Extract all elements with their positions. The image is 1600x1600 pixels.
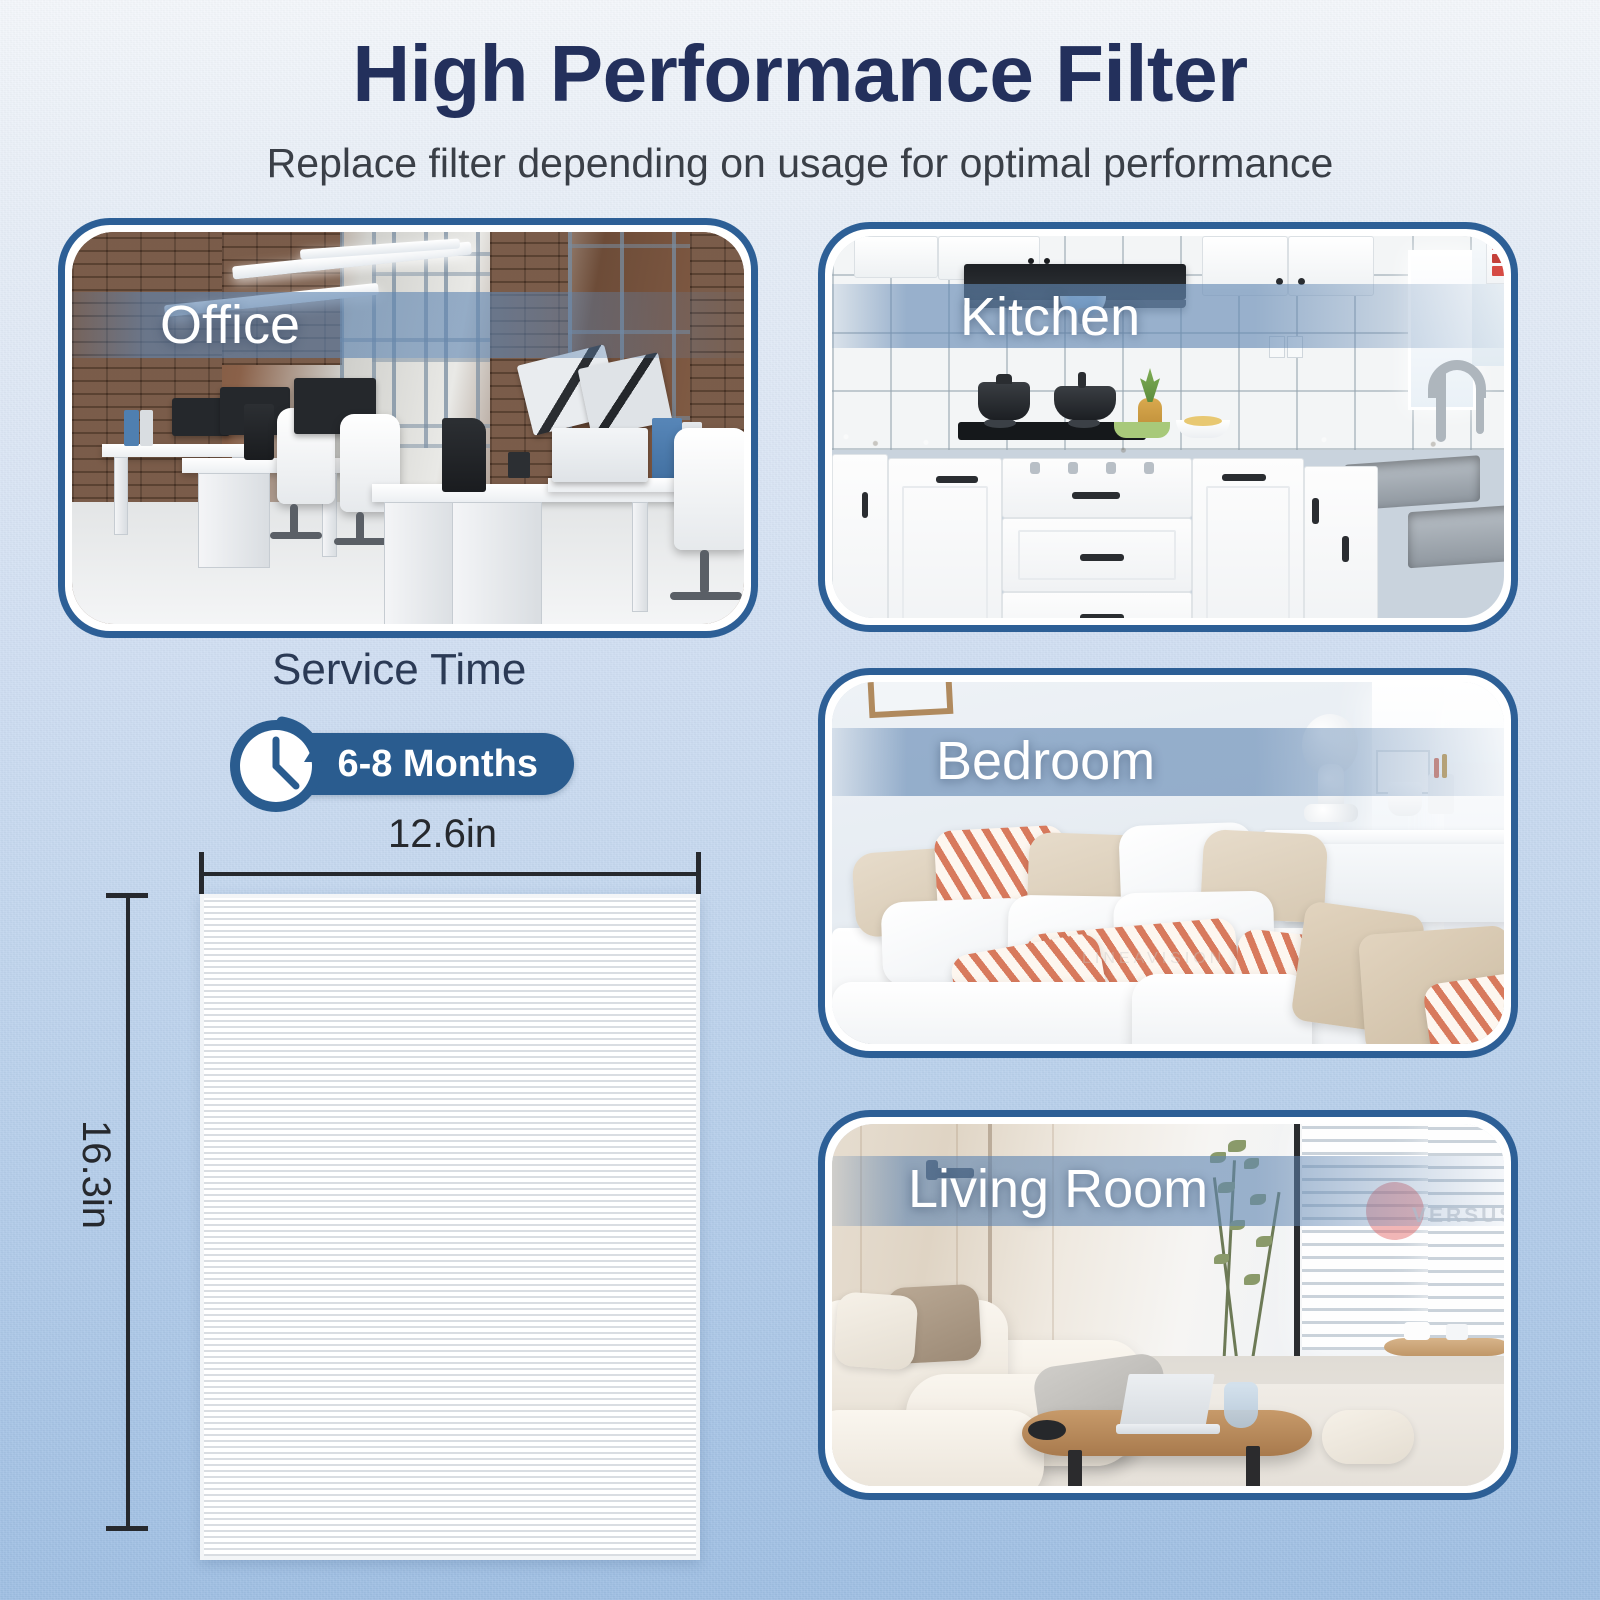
room-card-kitchen: Kitchen [818,222,1518,632]
room-label-kitchen: Kitchen [960,286,1140,348]
office-photo [72,232,744,624]
kitchen-label-band [832,284,1504,348]
room-label-bedroom: Bedroom [936,730,1155,792]
room-card-office: Office [58,218,758,638]
clock-refresh-icon [226,712,330,816]
width-dimension-label: 12.6in [388,812,497,857]
room-label-living-room: Living Room [908,1158,1208,1220]
height-dimension-line [126,894,130,1530]
width-dimension-cap-right [696,852,701,894]
filter-product-image [200,894,700,1560]
bedroom-label-band [832,728,1504,796]
service-time-heading: Service Time [272,645,526,695]
page-title: High Performance Filter [0,32,1600,116]
bedroom-watermark: LINEAVISION [1082,950,1225,968]
service-duration-label: 6-8 Months [337,743,538,786]
room-label-office: Office [160,294,300,356]
room-card-bedroom: LINEAVISION Bedroom [818,668,1518,1058]
width-dimension-cap-left [199,852,204,894]
page-subtitle: Replace filter depending on usage for op… [0,140,1600,187]
width-dimension-line [200,872,700,876]
height-dimension-cap-top [106,893,148,898]
room-card-living-room: VERSUS Living Room [818,1110,1518,1500]
height-dimension-label: 16.3in [73,1120,118,1229]
height-dimension-cap-bottom [106,1526,148,1531]
